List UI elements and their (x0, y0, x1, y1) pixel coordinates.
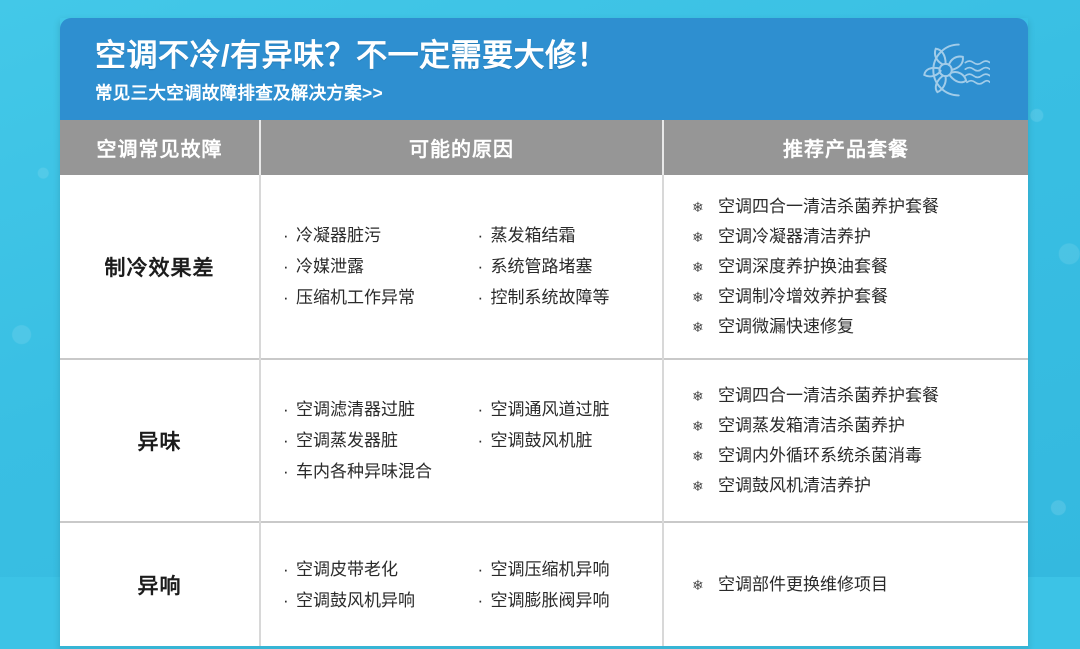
cause-column-left: · 冷凝器脏污 · 冷媒泄露 · 压缩机工作异常 (283, 220, 460, 313)
cause-cell: · 空调皮带老化 · 空调鼓风机异响 · 空调压缩机异响 (260, 522, 663, 646)
package-item[interactable]: ❄ 空调蒸发箱清洁杀菌养护 (692, 411, 1018, 441)
cause-item: · 空调蒸发器脏 (283, 425, 460, 456)
bullet-dot-icon: · (283, 585, 296, 616)
cause-label: 空调滤清器过脏 (296, 394, 415, 425)
package-item[interactable]: ❄ 空调四合一清洁杀菌养护套餐 (692, 192, 1018, 222)
package-item[interactable]: ❄ 空调四合一清洁杀菌养护套餐 (692, 381, 1018, 411)
package-label: 空调冷凝器清洁养护 (718, 222, 871, 252)
snowflake-icon: ❄ (692, 471, 718, 501)
cause-item: · 冷凝器脏污 (283, 220, 460, 251)
snowflake-icon: ❄ (692, 411, 718, 441)
banner-header: 空调不冷/有异味？不一定需要大修！ 常见三大空调故障排查及解决方案>> (60, 18, 1028, 120)
cause-item: · 空调鼓风机异响 (283, 585, 460, 616)
cause-column-right: · 蒸发箱结霜 · 系统管路堵塞 · 控制系统故障等 (478, 220, 655, 313)
cause-column-left: · 空调皮带老化 · 空调鼓风机异响 (283, 554, 460, 616)
snowflake-icon: ❄ (692, 192, 718, 222)
banner-title: 空调不冷/有异味？不一定需要大修！ (95, 36, 1028, 76)
fault-name: 制冷效果差 (60, 175, 260, 359)
fan-airflow-icon (916, 38, 990, 102)
cause-column-right: · 空调压缩机异响 · 空调膨胀阀异响 (478, 554, 655, 616)
cause-label: 蒸发箱结霜 (491, 220, 576, 251)
cause-item: · 空调通风道过脏 (478, 394, 655, 425)
snowflake-icon: ❄ (692, 312, 718, 342)
cause-label: 控制系统故障等 (491, 282, 610, 313)
fault-name: 异味 (60, 359, 260, 522)
cause-label: 压缩机工作异常 (296, 282, 415, 313)
cause-item: · 空调皮带老化 (283, 554, 460, 585)
package-item[interactable]: ❄ 空调内外循环系统杀菌消毒 (692, 441, 1018, 471)
cause-item: · 空调滤清器过脏 (283, 394, 460, 425)
column-header-cause: 可能的原因 (260, 120, 663, 175)
bullet-dot-icon: · (283, 554, 296, 585)
cause-item: · 冷媒泄露 (283, 251, 460, 282)
cause-column-right: · 空调通风道过脏 · 空调鼓风机脏 (478, 394, 655, 487)
snowflake-icon: ❄ (692, 381, 718, 411)
package-item[interactable]: ❄ 空调部件更换维修项目 (692, 570, 1018, 600)
bullet-dot-icon: · (283, 220, 296, 251)
cause-label: 车内各种异味混合 (296, 456, 432, 487)
package-label: 空调微漏快速修复 (718, 312, 854, 342)
cause-label: 冷凝器脏污 (296, 220, 381, 251)
cause-item: · 控制系统故障等 (478, 282, 655, 313)
cause-item: · 蒸发箱结霜 (478, 220, 655, 251)
package-cell: ❄ 空调部件更换维修项目 (663, 522, 1028, 646)
cause-label: 空调通风道过脏 (491, 394, 610, 425)
cause-label: 空调鼓风机脏 (491, 425, 593, 456)
bullet-dot-icon: · (478, 394, 491, 425)
package-label: 空调内外循环系统杀菌消毒 (718, 441, 922, 471)
bullet-dot-icon: · (283, 456, 296, 487)
bullet-dot-icon: · (283, 282, 296, 313)
bullet-dot-icon: · (283, 425, 296, 456)
cause-item: · 车内各种异味混合 (283, 456, 460, 487)
table-row: 异响 · 空调皮带老化 · 空调鼓风机异响 (60, 522, 1028, 646)
package-label: 空调部件更换维修项目 (718, 570, 888, 600)
snowflake-icon: ❄ (692, 441, 718, 471)
bullet-dot-icon: · (283, 394, 296, 425)
cause-label: 空调皮带老化 (296, 554, 398, 585)
column-header-fault: 空调常见故障 (60, 120, 260, 175)
cause-item: · 空调膨胀阀异响 (478, 585, 655, 616)
snowflake-icon: ❄ (692, 252, 718, 282)
package-label: 空调制冷增效养护套餐 (718, 282, 888, 312)
cause-cell: · 空调滤清器过脏 · 空调蒸发器脏 · 车内各种异味混合 (260, 359, 663, 522)
cause-label: 空调压缩机异响 (491, 554, 610, 585)
package-item[interactable]: ❄ 空调制冷增效养护套餐 (692, 282, 1018, 312)
package-cell: ❄ 空调四合一清洁杀菌养护套餐 ❄ 空调冷凝器清洁养护 ❄ 空调深度养护换油套餐… (663, 175, 1028, 359)
cause-item: · 空调压缩机异响 (478, 554, 655, 585)
cause-label: 冷媒泄露 (296, 251, 364, 282)
bullet-dot-icon: · (478, 425, 491, 456)
bullet-dot-icon: · (478, 585, 491, 616)
package-cell: ❄ 空调四合一清洁杀菌养护套餐 ❄ 空调蒸发箱清洁杀菌养护 ❄ 空调内外循环系统… (663, 359, 1028, 522)
banner-subtitle[interactable]: 常见三大空调故障排查及解决方案>> (95, 80, 1028, 106)
info-card: 空调不冷/有异味？不一定需要大修！ 常见三大空调故障排查及解决方案>> (60, 18, 1028, 649)
bullet-dot-icon: · (478, 554, 491, 585)
cause-label: 空调鼓风机异响 (296, 585, 415, 616)
bullet-dot-icon: · (283, 251, 296, 282)
cause-item: · 压缩机工作异常 (283, 282, 460, 313)
cause-label: 系统管路堵塞 (491, 251, 593, 282)
snowflake-icon: ❄ (692, 282, 718, 312)
package-item[interactable]: ❄ 空调深度养护换油套餐 (692, 252, 1018, 282)
cause-label: 空调蒸发器脏 (296, 425, 398, 456)
fault-table: 空调常见故障 可能的原因 推荐产品套餐 制冷效果差 · 冷凝器脏污 (60, 120, 1028, 646)
package-label: 空调四合一清洁杀菌养护套餐 (718, 192, 939, 222)
package-label: 空调深度养护换油套餐 (718, 252, 888, 282)
package-label: 空调鼓风机清洁养护 (718, 471, 871, 501)
snowflake-icon: ❄ (692, 222, 718, 252)
package-item[interactable]: ❄ 空调冷凝器清洁养护 (692, 222, 1018, 252)
package-item[interactable]: ❄ 空调微漏快速修复 (692, 312, 1018, 342)
fault-name: 异响 (60, 522, 260, 646)
table-row: 制冷效果差 · 冷凝器脏污 · 冷媒泄露 (60, 175, 1028, 359)
cause-cell: · 冷凝器脏污 · 冷媒泄露 · 压缩机工作异常 (260, 175, 663, 359)
snowflake-icon: ❄ (692, 570, 718, 600)
cause-item: · 系统管路堵塞 (478, 251, 655, 282)
cause-column-left: · 空调滤清器过脏 · 空调蒸发器脏 · 车内各种异味混合 (283, 394, 460, 487)
bullet-dot-icon: · (478, 251, 491, 282)
column-header-package: 推荐产品套餐 (663, 120, 1028, 175)
package-label: 空调蒸发箱清洁杀菌养护 (718, 411, 905, 441)
table-row: 异味 · 空调滤清器过脏 · 空调蒸发器脏 (60, 359, 1028, 522)
cause-item: · 空调鼓风机脏 (478, 425, 655, 456)
package-item[interactable]: ❄ 空调鼓风机清洁养护 (692, 471, 1018, 501)
cause-label: 空调膨胀阀异响 (491, 585, 610, 616)
table-header-row: 空调常见故障 可能的原因 推荐产品套餐 (60, 120, 1028, 175)
bullet-dot-icon: · (478, 282, 491, 313)
bullet-dot-icon: · (478, 220, 491, 251)
package-label: 空调四合一清洁杀菌养护套餐 (718, 381, 939, 411)
